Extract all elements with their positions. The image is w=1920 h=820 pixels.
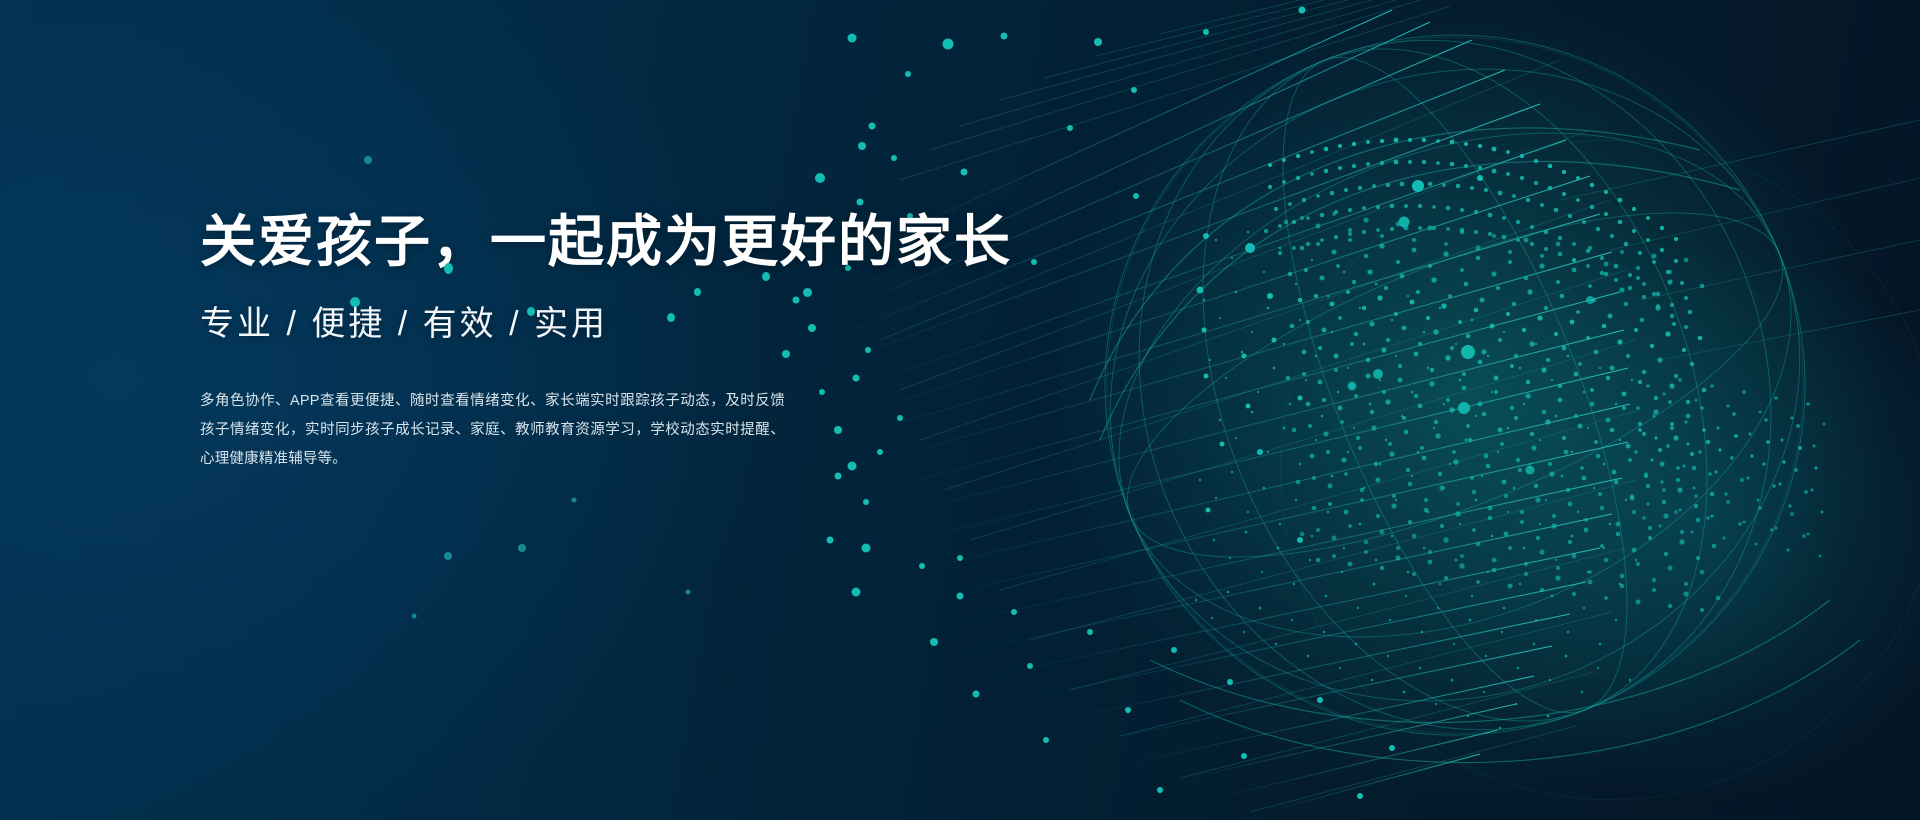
accent-dot [762, 272, 770, 281]
accent-dot [667, 313, 675, 322]
page-title: 关爱孩子，一起成为更好的家长 [200, 208, 960, 276]
accent-dot [444, 263, 453, 274]
hero-banner: 关爱孩子，一起成为更好的家长 专业 / 便捷 / 有效 / 实用 多角色协作、A… [0, 0, 1920, 820]
accent-dot [803, 288, 812, 297]
accent-dot [350, 297, 360, 307]
hero-subtitle: 专业 / 便捷 / 有效 / 实用 [200, 302, 960, 346]
accent-dot [527, 307, 535, 316]
hero-description: 多角色协作、APP查看更便捷、随时查看情绪变化、家长端实时跟踪孩子动态，及时反馈… [200, 387, 785, 474]
accent-dot [694, 288, 701, 296]
hero-copy-block: 关爱孩子，一起成为更好的家长 专业 / 便捷 / 有效 / 实用 多角色协作、A… [200, 208, 960, 474]
